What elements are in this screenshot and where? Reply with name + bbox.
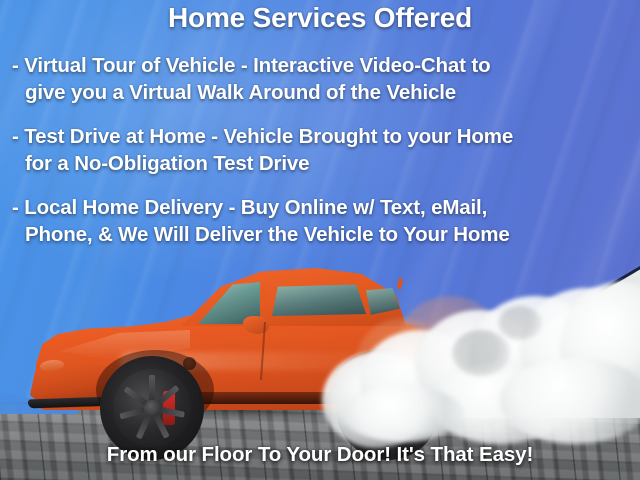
service-line-primary: - Local Home Delivery - Buy Online w/ Te… [12,196,487,219]
text-overlay: Home Services Offered - Virtual Tour of … [0,0,640,480]
service-line-primary: - Test Drive at Home - Vehicle Brought t… [12,125,513,148]
service-line-secondary: Phone, & We Will Deliver the Vehicle to … [12,221,628,248]
list-item: - Local Home Delivery - Buy Online w/ Te… [12,194,628,248]
page-title: Home Services Offered [0,2,640,34]
service-line-primary: - Virtual Tour of Vehicle - Interactive … [12,54,490,77]
service-line-secondary: for a No-Obligation Test Drive [12,150,628,177]
services-list: - Virtual Tour of Vehicle - Interactive … [12,52,628,265]
service-line-secondary: give you a Virtual Walk Around of the Ve… [12,79,628,106]
tagline: From our Floor To Your Door! It's That E… [0,443,640,467]
list-item: - Virtual Tour of Vehicle - Interactive … [12,52,628,106]
list-item: - Test Drive at Home - Vehicle Brought t… [12,123,628,177]
home-services-banner: Home Services Offered - Virtual Tour of … [0,0,640,480]
